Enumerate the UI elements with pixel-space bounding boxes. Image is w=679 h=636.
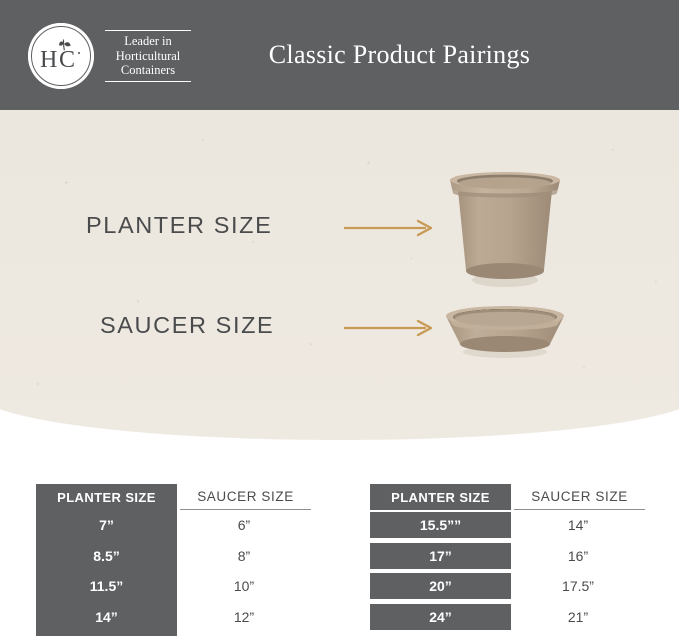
cell-saucer-size: 8” bbox=[177, 541, 311, 572]
table-row: 20” 17.5” bbox=[370, 571, 645, 602]
table-row: 15.5”” 14” bbox=[370, 510, 645, 541]
saucer-dish-image bbox=[440, 300, 570, 362]
column-header-planter: PLANTER SIZE bbox=[370, 484, 511, 510]
logo-tagline-line3: Containers bbox=[105, 63, 191, 78]
planter-size-label-row: PLANTER SIZE bbox=[86, 212, 272, 239]
cell-saucer-size: 14” bbox=[511, 510, 645, 541]
table-row: 17” 16” bbox=[370, 541, 645, 572]
leaf-sprout-icon: H C bbox=[38, 36, 84, 76]
planter-arrow-icon bbox=[344, 218, 436, 238]
cell-saucer-size: 17.5” bbox=[511, 571, 645, 602]
logo-tagline-line1: Leader in bbox=[105, 34, 191, 49]
table-row: 7” 6” bbox=[36, 510, 311, 541]
logo-tagline: Leader in Horticultural Containers bbox=[105, 30, 191, 82]
table-header-row: PLANTER SIZE SAUCER SIZE bbox=[36, 484, 311, 510]
planter-size-label: PLANTER SIZE bbox=[86, 212, 272, 239]
cell-planter-size: 24” bbox=[370, 604, 511, 630]
cell-saucer-size: 10” bbox=[177, 571, 311, 602]
cell-planter-size: 8.5” bbox=[36, 541, 177, 572]
cell-planter-size: 11.5” bbox=[36, 571, 177, 602]
cell-saucer-size: 6” bbox=[177, 510, 311, 541]
saucer-size-label-row: SAUCER SIZE bbox=[100, 312, 274, 339]
table-header-row: PLANTER SIZE SAUCER SIZE bbox=[370, 484, 645, 510]
textured-background bbox=[0, 110, 679, 440]
planter-cell-wrap: 20” bbox=[370, 571, 511, 602]
header-band: H C Leader in Horticultural Containers C… bbox=[0, 0, 679, 110]
planter-pot-image bbox=[440, 168, 570, 290]
table-row: 24” 21” bbox=[370, 602, 645, 633]
table-row: 8.5” 8” bbox=[36, 541, 311, 572]
column-header-planter: PLANTER SIZE bbox=[36, 484, 177, 510]
product-pairings-infographic: H C Leader in Horticultural Containers C… bbox=[0, 0, 679, 636]
cell-planter-size: 17” bbox=[370, 543, 511, 569]
saucer-arrow-icon bbox=[344, 318, 436, 338]
cell-planter-size: 20” bbox=[370, 573, 511, 599]
size-table-small: PLANTER SIZE SAUCER SIZE 7” 6” 8.5” 8” 1… bbox=[36, 484, 311, 632]
table-body: 7” 6” 8.5” 8” 11.5” 10” 14” 12” bbox=[36, 510, 311, 632]
table-row: 14” 12” bbox=[36, 602, 311, 633]
diagram-section bbox=[0, 110, 679, 440]
logo-circle-badge: H C bbox=[28, 23, 94, 89]
svg-text:C: C bbox=[59, 47, 75, 73]
planter-cell-wrap: 17” bbox=[370, 541, 511, 572]
cell-saucer-size: 21” bbox=[511, 602, 645, 633]
table-row: 11.5” 10” bbox=[36, 571, 311, 602]
cell-planter-size: 15.5”” bbox=[370, 512, 511, 538]
column-header-saucer: SAUCER SIZE bbox=[514, 484, 645, 510]
cell-saucer-size: 16” bbox=[511, 541, 645, 572]
logo-tagline-line2: Horticultural bbox=[105, 49, 191, 64]
size-table-large: PLANTER SIZE SAUCER SIZE 15.5”” 14” 17” … bbox=[370, 484, 645, 632]
planter-cell-wrap: 24” bbox=[370, 602, 511, 633]
cell-planter-size: 7” bbox=[36, 510, 177, 541]
planter-cell-wrap: 15.5”” bbox=[370, 510, 511, 541]
cell-planter-size: 14” bbox=[36, 602, 177, 633]
svg-text:H: H bbox=[40, 47, 57, 73]
table-body: 15.5”” 14” 17” 16” 20” 17.5” bbox=[370, 510, 645, 632]
size-tables: PLANTER SIZE SAUCER SIZE 7” 6” 8.5” 8” 1… bbox=[0, 484, 679, 636]
column-header-saucer: SAUCER SIZE bbox=[180, 484, 311, 510]
saucer-size-label: SAUCER SIZE bbox=[100, 312, 274, 339]
cell-saucer-size: 12” bbox=[177, 602, 311, 633]
brand-logo: H C Leader in Horticultural Containers bbox=[28, 23, 191, 89]
